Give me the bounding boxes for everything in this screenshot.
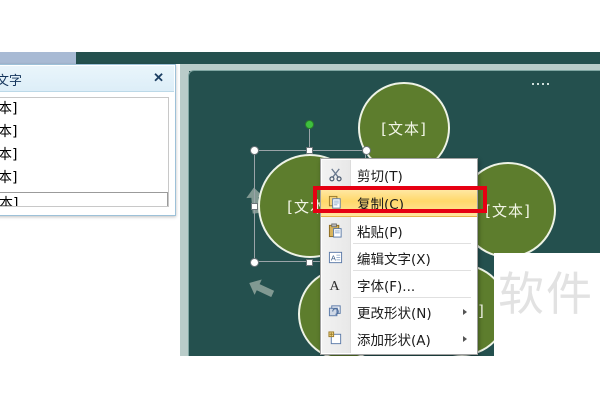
menu-item-label: 字体(F)... [349,275,415,295]
smartart-text-pane[interactable]: 文字 ✕ 本] 本] 本] 本] 本] [0,64,176,216]
text-pane-list[interactable]: 本] 本] 本] 本] 本] [0,97,169,207]
edit-text-icon: A [321,250,349,265]
selection-handle-middle-left[interactable] [251,203,258,210]
smartart-node-label: [文本] [381,118,427,139]
text-pane-titlebar: 文字 ✕ [0,66,174,92]
top-strip-left [0,52,76,64]
watermark-text: 软件 [498,258,594,324]
list-item[interactable]: 本] [0,167,168,190]
svg-text:A: A [330,253,335,262]
list-item[interactable]: 本] [0,121,168,144]
selection-handle-bottom-center[interactable] [306,259,313,266]
paste-icon [321,223,349,238]
menu-item-label: 粘贴(P) [349,221,403,241]
selection-handle-top-right[interactable] [362,146,371,155]
font-icon: A [321,277,349,293]
list-item-selected[interactable]: 本] [0,192,168,207]
menu-item-label: 添加形状(A) [349,329,431,349]
menu-item-paste[interactable]: 粘贴(P) [321,217,477,244]
chevron-right-icon [463,309,467,315]
top-strip-right [76,52,600,64]
bottom-white-band [0,356,600,400]
menu-item-add-shape[interactable]: 添加形状(A) [321,325,477,352]
add-shape-icon [321,331,349,346]
connector-arrow-bottom-left [246,275,277,301]
selection-handle-top-center[interactable] [306,147,313,154]
menu-item-edit-text[interactable]: A 编辑文字(X) [321,244,477,271]
chevron-right-icon [463,336,467,342]
menu-item-change-shape[interactable]: 更改形状(N) [321,298,477,325]
selection-handle-bottom-left[interactable] [250,258,259,267]
rotate-handle[interactable] [305,120,314,129]
text-pane-title: 文字 [0,70,22,89]
change-shape-icon [321,304,349,319]
svg-text:A: A [330,279,341,293]
menu-item-label: 编辑文字(X) [349,248,431,268]
menu-item-label: 复制(C) [349,193,404,213]
selection-handle-top-left[interactable] [250,146,259,155]
canvas-top-edge [180,64,600,71]
menu-item-cut[interactable]: 剪切(T) [321,161,477,188]
cut-icon [321,167,349,182]
top-white-band [0,0,600,52]
smartart-node-label: [文本] [485,200,531,221]
menu-item-font[interactable]: A 字体(F)... [321,271,477,298]
copy-icon [321,195,349,210]
canvas-resize-grip[interactable] [532,72,554,76]
close-icon[interactable]: ✕ [153,70,164,86]
list-item[interactable]: 本] [0,98,168,121]
menu-item-copy[interactable]: 复制(C) [321,188,477,217]
menu-item-label: 更改形状(N) [349,302,432,322]
menu-item-label: 剪切(T) [349,165,403,185]
list-item[interactable]: 本] [0,144,168,167]
canvas-left-edge [180,64,189,356]
context-menu[interactable]: 剪切(T) 复制(C) 粘贴(P) [320,158,478,355]
